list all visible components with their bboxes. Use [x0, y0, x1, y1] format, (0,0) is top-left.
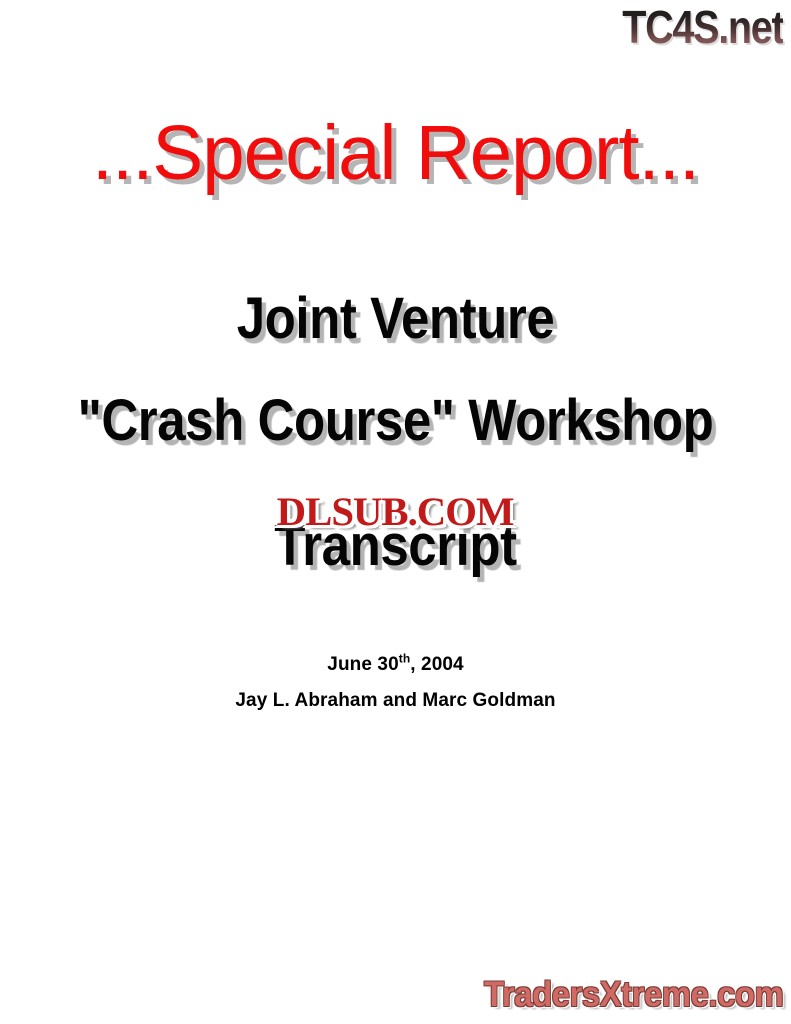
- headline-line-joint-venture: Joint Venture: [47, 288, 743, 350]
- document-page: TC4S.net ...Special Report... Joint Vent…: [0, 0, 791, 1024]
- byline-block: June 30th, 2004 Jay L. Abraham and Marc …: [0, 653, 791, 713]
- byline-date-prefix: June 30: [327, 654, 398, 675]
- page-title-special-report: ...Special Report...: [4, 113, 787, 194]
- headline-line-transcript: Transcript: [47, 515, 743, 577]
- headline-line-crash-course-workshop: "Crash Course" Workshop: [47, 390, 743, 452]
- transcript-watermark-group: Transcript DLSUB.COM: [0, 505, 791, 595]
- footer-brand-tradersxtreme: TradersXtreme.com: [484, 975, 783, 1015]
- site-logo-tc4s: TC4S.net: [622, 4, 783, 50]
- byline-date-suffix: , 2004: [410, 654, 463, 675]
- byline-date-ordinal: th: [399, 652, 411, 666]
- headline-block: Joint Venture "Crash Course" Workshop: [0, 288, 791, 452]
- byline-authors: Jay L. Abraham and Marc Goldman: [0, 689, 791, 713]
- byline-date: June 30th, 2004: [0, 653, 791, 677]
